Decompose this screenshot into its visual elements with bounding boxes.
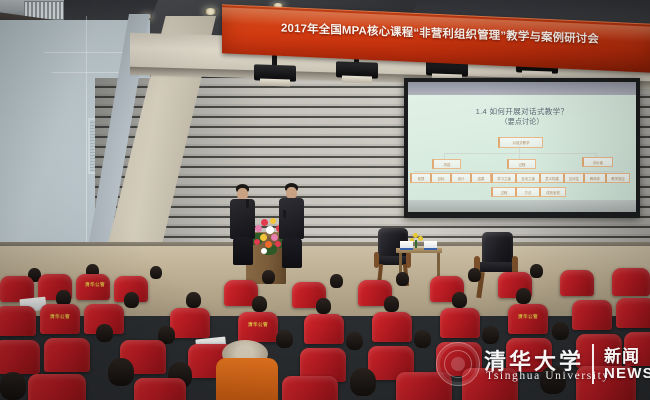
slide-node-l3: 教师评 [583, 173, 606, 183]
slide-node-l3: 意义构建 [539, 173, 564, 183]
attendee [530, 264, 543, 278]
projection-screen: 1.4 如何开展对话式教学？ （要点讨论） 对话式教学 内容 过程 评价者 前提… [408, 95, 636, 207]
attendee [516, 288, 531, 304]
seat[interactable] [134, 378, 186, 400]
seat[interactable] [0, 340, 40, 374]
seat-label: 清华公管 [518, 314, 538, 320]
slide-node-l2: 内容 [432, 159, 461, 169]
seat[interactable] [506, 338, 552, 372]
attendee [186, 292, 201, 308]
slide-connector [414, 171, 624, 172]
slide-node-l3: 教学效应 [605, 173, 630, 183]
seat[interactable] [170, 308, 210, 338]
slide-connector [519, 146, 520, 153]
seat[interactable] [612, 268, 650, 296]
slide-node-l3: 结果 [470, 173, 491, 183]
attendee [414, 330, 431, 348]
auditorium-photo: 2017年全国MPA核心课程“非营利组织管理”教学与案例研讨会 1.4 如何开展… [0, 0, 650, 400]
seat[interactable] [372, 312, 412, 342]
attendee [150, 266, 162, 279]
seat[interactable] [440, 308, 480, 338]
slide-node-l2: 过程 [507, 159, 536, 169]
seat[interactable] [44, 338, 90, 372]
seat[interactable] [624, 332, 650, 366]
seat[interactable] [282, 376, 338, 400]
attendee [468, 268, 481, 282]
seat[interactable] [616, 298, 650, 328]
seat-label: 清华公管 [85, 282, 105, 288]
projection-screen-top-band [408, 82, 636, 95]
seat[interactable] [0, 306, 36, 336]
attendee [316, 298, 331, 314]
attendee [346, 332, 363, 350]
name-card [400, 241, 413, 250]
attendee [384, 296, 399, 312]
seat[interactable] [576, 334, 622, 368]
seat[interactable] [576, 366, 636, 400]
table-flower-stem [415, 240, 417, 248]
attendee [252, 296, 267, 312]
wall-seam [86, 16, 87, 266]
seat[interactable] [462, 368, 518, 400]
attendee [276, 330, 293, 348]
seat-label: 清华公管 [248, 322, 268, 328]
slide-connector [444, 153, 596, 154]
slide-title: 1.4 如何开展对话式教学？ [408, 106, 636, 117]
slide-node-l3: 学习之道 [491, 173, 516, 183]
attendee [482, 326, 499, 344]
slide-node-l3: 互评估 [563, 173, 584, 183]
attendee [124, 292, 139, 308]
audience-seating: 清华公管 清华公管 清华公管 清华公管 [0, 262, 650, 400]
attendee [350, 368, 376, 396]
microphone [283, 210, 286, 218]
seat[interactable] [560, 270, 594, 296]
stage-spotlight [336, 61, 378, 78]
seat[interactable] [572, 300, 612, 330]
slide-node-l3: 前提 [410, 173, 431, 183]
seat[interactable] [396, 372, 452, 400]
microphone [246, 199, 249, 208]
attendee [452, 292, 467, 308]
slide-node-l3: 互动之道 [515, 173, 540, 183]
slide-node-l4: 成效呈现 [539, 187, 566, 197]
seat-label: 清华公管 [50, 314, 70, 320]
stage-spotlight [254, 64, 296, 81]
seat[interactable] [304, 314, 344, 344]
slide-node-l2: 评价者 [582, 157, 613, 167]
attendee [396, 272, 409, 286]
table-flower [418, 236, 423, 241]
slide-node-l4: 方法 [515, 187, 540, 197]
slide-node-l4: 过程 [491, 187, 516, 197]
seat[interactable] [28, 374, 86, 400]
attendee [330, 274, 343, 288]
attendee [0, 372, 26, 400]
ceiling-downlight [204, 8, 217, 15]
name-card [424, 241, 437, 250]
attendee [262, 270, 275, 284]
slide-subtitle: （要点讨论） [408, 117, 636, 127]
slide-node-l3: 目标 [430, 173, 451, 183]
attendee [96, 324, 113, 342]
projection-screen-bottom-band [408, 200, 636, 212]
attendee [108, 358, 134, 386]
orange-coat-attendee [216, 358, 278, 400]
slide-node-root: 对话式教学 [498, 137, 543, 148]
attendee [540, 366, 566, 394]
attendee [552, 322, 569, 340]
slide-node-l3: 设计 [450, 173, 471, 183]
